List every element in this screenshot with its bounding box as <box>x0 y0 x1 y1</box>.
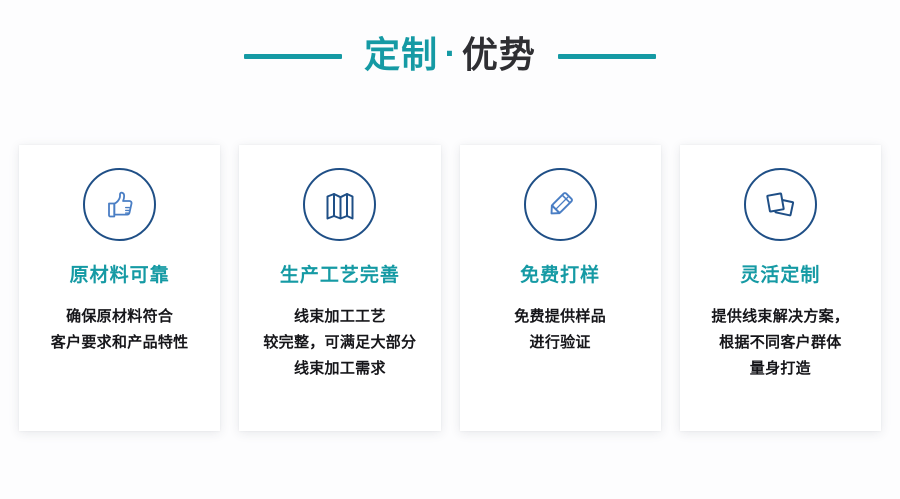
icon-ring <box>303 168 376 241</box>
body-line: 较完整，可满足大部分 <box>263 330 416 356</box>
advantage-card-title: 灵活定制 <box>740 266 820 285</box>
body-line: 客户要求和产品特性 <box>51 330 189 356</box>
stacked-cards-icon <box>760 185 800 225</box>
advantage-card-body: 确保原材料符合 客户要求和产品特性 <box>43 304 197 356</box>
heading-rule-left <box>244 54 342 59</box>
body-line: 免费提供样品 <box>514 304 606 330</box>
heading-rule-right <box>558 54 656 59</box>
title-accent-text: 定制 <box>364 38 438 74</box>
advantage-card-title: 免费打样 <box>520 266 600 285</box>
body-line: 确保原材料符合 <box>51 304 189 330</box>
advantage-card[interactable]: 灵活定制 提供线束解决方案， 根据不同客户群体 量身打造 <box>680 145 881 431</box>
advantage-card-body: 线束加工工艺 较完整，可满足大部分 线束加工需求 <box>255 304 424 381</box>
body-line: 线束加工需求 <box>263 356 416 382</box>
thumbs-up-icon <box>101 186 139 224</box>
body-line: 提供线束解决方案， <box>712 304 850 330</box>
pencil-icon <box>541 186 579 224</box>
advantage-card-title: 原材料可靠 <box>70 266 170 285</box>
advantage-card-title: 生产工艺完善 <box>280 266 400 285</box>
title-dark-text: 优势 <box>462 38 536 74</box>
folded-map-icon <box>320 185 360 225</box>
icon-ring <box>744 168 817 241</box>
page-title: 定制 · 优势 <box>364 38 536 74</box>
advantage-card[interactable]: 免费打样 免费提供样品 进行验证 <box>460 145 661 431</box>
body-line: 线束加工工艺 <box>263 304 416 330</box>
advantage-card-body: 免费提供样品 进行验证 <box>506 304 614 356</box>
body-line: 根据不同客户群体 <box>712 330 850 356</box>
advantage-card-body: 提供线束解决方案， 根据不同客户群体 量身打造 <box>704 304 858 381</box>
advantage-card[interactable]: 原材料可靠 确保原材料符合 客户要求和产品特性 <box>19 145 220 431</box>
advantages-section: 定制 · 优势 原材料可靠 确保原材料符合 客户要求和产品特性 <box>0 0 900 499</box>
advantage-card[interactable]: 生产工艺完善 线束加工工艺 较完整，可满足大部分 线束加工需求 <box>239 145 440 431</box>
body-line: 量身打造 <box>712 356 850 382</box>
title-separator-dot: · <box>444 40 456 68</box>
section-header: 定制 · 优势 <box>0 28 900 84</box>
advantage-card-list: 原材料可靠 确保原材料符合 客户要求和产品特性 生产工艺完善 <box>19 145 881 431</box>
body-line: 进行验证 <box>514 330 606 356</box>
icon-ring <box>524 168 597 241</box>
icon-ring <box>83 168 156 241</box>
